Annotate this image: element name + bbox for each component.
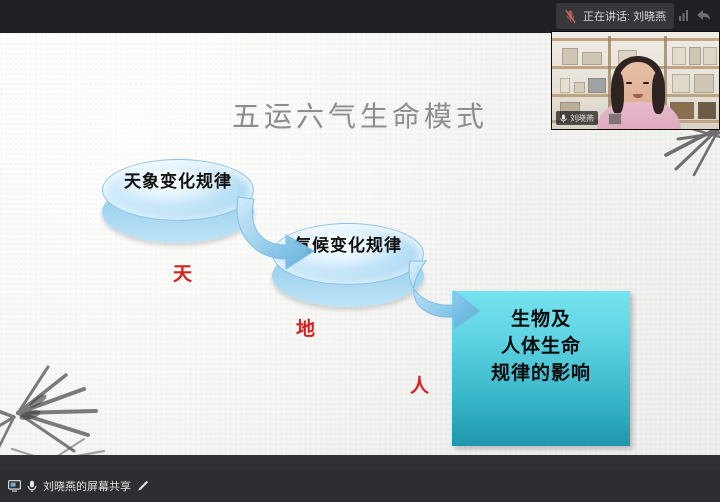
- back-arrow-icon[interactable]: [696, 8, 711, 22]
- mic-icon: [560, 114, 567, 123]
- bamboo-bottom-left-decoration: [0, 353, 138, 470]
- meeting-bottom-bar: 刘晓燕的屏幕共享: [0, 470, 720, 502]
- active-speaker-indicator[interactable]: 正在讲话: 刘晓燕: [556, 3, 674, 29]
- meeting-top-bar: 正在讲话: 刘晓燕: [0, 0, 720, 33]
- slide-bottom-edge: [0, 455, 720, 470]
- curved-arrow-climate-to-life-icon: [404, 255, 504, 335]
- shelf-item: [672, 74, 690, 93]
- shelf-plank: [552, 38, 719, 41]
- annotation-heaven: 天: [173, 259, 192, 286]
- top-bar-right-controls[interactable]: [678, 8, 711, 22]
- mic-off-icon: [564, 9, 577, 24]
- zoom-meeting-window: 五运六气生命模式 天象变化规律: [0, 0, 720, 502]
- shelf-item: [689, 47, 701, 65]
- pin-video-icon[interactable]: [608, 113, 622, 125]
- annotation-human: 人: [410, 371, 429, 398]
- signal-icon[interactable]: [678, 8, 692, 22]
- active-speaker-label: 正在讲话: 刘晓燕: [583, 8, 666, 24]
- mic-icon[interactable]: [27, 480, 37, 493]
- shelf-item: [582, 52, 602, 65]
- annotation-earth: 地: [296, 314, 315, 341]
- person-eye-left: [626, 82, 632, 84]
- screen-share-icon[interactable]: [8, 480, 21, 492]
- pencil-icon[interactable]: [137, 480, 149, 492]
- result-line-3: 规律的影响: [452, 360, 630, 387]
- shelf-item: [672, 47, 686, 65]
- shelf-item: [698, 102, 716, 119]
- shelf-item: [703, 47, 717, 65]
- screen-share-status[interactable]: 刘晓燕的屏幕共享: [8, 478, 149, 494]
- share-status-label: 刘晓燕的屏幕共享: [43, 478, 131, 494]
- result-line-2: 人体生命: [452, 333, 630, 360]
- person-eye-right: [643, 82, 649, 84]
- video-participant-name: 刘晓燕: [570, 113, 594, 124]
- video-name-badge: 刘晓燕: [556, 111, 598, 125]
- shelf-item: [574, 82, 585, 93]
- shelf-item: [562, 48, 578, 65]
- curved-arrow-sky-to-climate-icon: [228, 189, 338, 279]
- shelf-item: [694, 74, 714, 93]
- shelf-item: [588, 78, 606, 93]
- shelf-item: [560, 78, 570, 93]
- participant-video-thumbnail[interactable]: 刘晓燕: [551, 31, 720, 130]
- person-hair-right: [652, 72, 665, 114]
- person-hair-left: [611, 72, 624, 114]
